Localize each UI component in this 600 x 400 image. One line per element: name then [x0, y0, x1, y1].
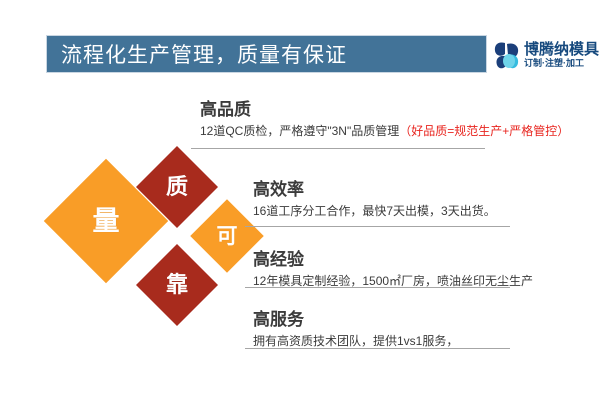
diamond-label-liang: 量 — [93, 208, 120, 235]
feature-body-text-service: 拥有高资质技术团队，提供1vs1服务， — [253, 334, 458, 348]
logo-text-group: 博腾纳模具 订制·注塑·加工 — [524, 42, 599, 68]
feature-body-text-experience: 12年模具定制经验，1500㎡厂房，喷油丝印无尘生产 — [253, 274, 533, 288]
feature-body-text-quality: 12道QC质检，严格遵守"3N"品质管理 — [200, 124, 399, 138]
feature-block-efficiency: 高效率 16道工序分工合作，最快7天出模，3天出货。 — [253, 180, 496, 219]
feature-title-quality: 高品质 — [200, 100, 569, 120]
divider-service — [245, 348, 510, 349]
feature-title-service: 高服务 — [253, 310, 458, 330]
brand-logo: 博腾纳模具 订制·注塑·加工 — [494, 36, 590, 74]
diamond-label-zhi: 质 — [166, 176, 188, 198]
feature-body-efficiency: 16道工序分工合作，最快7天出模，3天出货。 — [253, 204, 496, 220]
diamond-label-kao: 靠 — [166, 274, 188, 296]
header-bar: 流程化生产管理，质量有保证 — [46, 35, 487, 73]
feature-block-quality: 高品质 12道QC质检，严格遵守"3N"品质管理（好品质=规范生产+严格管控） — [200, 100, 569, 139]
feature-title-experience: 高经验 — [253, 250, 533, 270]
feature-block-experience: 高经验 12年模具定制经验，1500㎡厂房，喷油丝印无尘生产 — [253, 250, 533, 289]
divider-quality — [191, 148, 485, 149]
butterfly-logo-icon — [494, 40, 520, 70]
feature-block-service: 高服务 拥有高资质技术团队，提供1vs1服务， — [253, 310, 458, 349]
feature-title-efficiency: 高效率 — [253, 180, 496, 200]
page-title: 流程化生产管理，质量有保证 — [61, 39, 347, 69]
divider-experience — [245, 287, 510, 288]
diamond-badge-kao: 靠 — [136, 244, 218, 326]
feature-body-highlight-quality: （好品质=规范生产+严格管控） — [399, 124, 569, 138]
divider-efficiency — [245, 226, 510, 227]
feature-body-service: 拥有高资质技术团队，提供1vs1服务， — [253, 334, 458, 350]
feature-body-text-efficiency: 16道工序分工合作，最快7天出模，3天出货。 — [253, 204, 496, 218]
logo-tagline: 订制·注塑·加工 — [524, 59, 599, 68]
diamond-label-ke: 可 — [217, 226, 238, 247]
logo-company-name: 博腾纳模具 — [524, 42, 599, 57]
feature-body-quality: 12道QC质检，严格遵守"3N"品质管理（好品质=规范生产+严格管控） — [200, 124, 569, 140]
